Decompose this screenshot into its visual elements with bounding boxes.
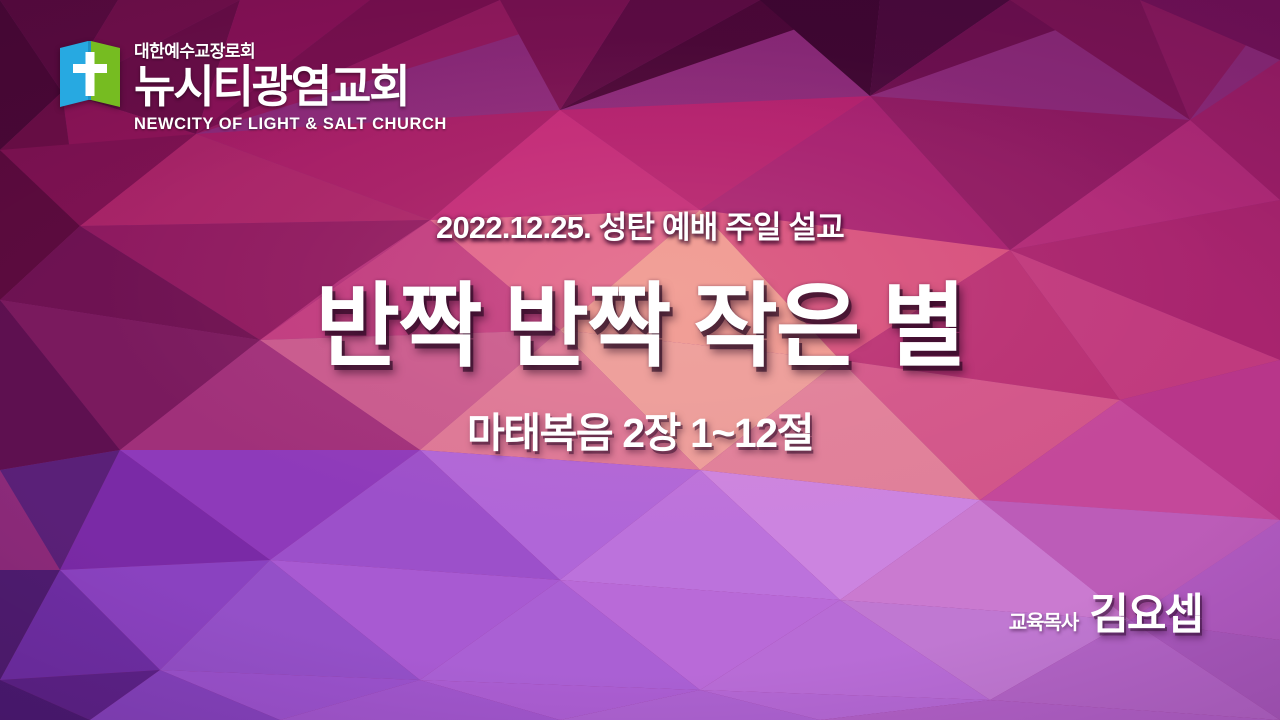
logo-church-name-english: NEWCITY OF LIGHT & SALT CHURCH bbox=[134, 116, 447, 133]
sermon-text-group: 2022.12.25. 성탄 예배 주일 설교 반짝 반짝 작은 별 마태복음 … bbox=[0, 212, 1280, 454]
sermon-scripture-reference: 마태복음 2장 1~12절 bbox=[0, 413, 1280, 454]
logo-text-column: 대한예수교장로회 뉴시티광염교회 NEWCITY OF LIGHT & SALT… bbox=[134, 43, 447, 132]
church-logo: 대한예수교장로회 뉴시티광염교회 NEWCITY OF LIGHT & SALT… bbox=[58, 38, 447, 132]
open-book-cross-icon bbox=[58, 38, 124, 110]
sermon-date-line: 2022.12.25. 성탄 예배 주일 설교 bbox=[0, 212, 1280, 243]
logo-church-name-korean: 뉴시티광염교회 bbox=[134, 65, 408, 109]
speaker-credit: 교육목사 김요셉 bbox=[1009, 580, 1202, 642]
speaker-role: 교육목사 bbox=[1009, 606, 1079, 635]
speaker-name: 김요셉 bbox=[1089, 580, 1202, 642]
sermon-title: 반짝 반짝 작은 별 bbox=[0, 281, 1280, 373]
logo-denomination: 대한예수교장로회 bbox=[134, 43, 255, 60]
sermon-title-slide: 대한예수교장로회 뉴시티광염교회 NEWCITY OF LIGHT & SALT… bbox=[0, 0, 1280, 720]
